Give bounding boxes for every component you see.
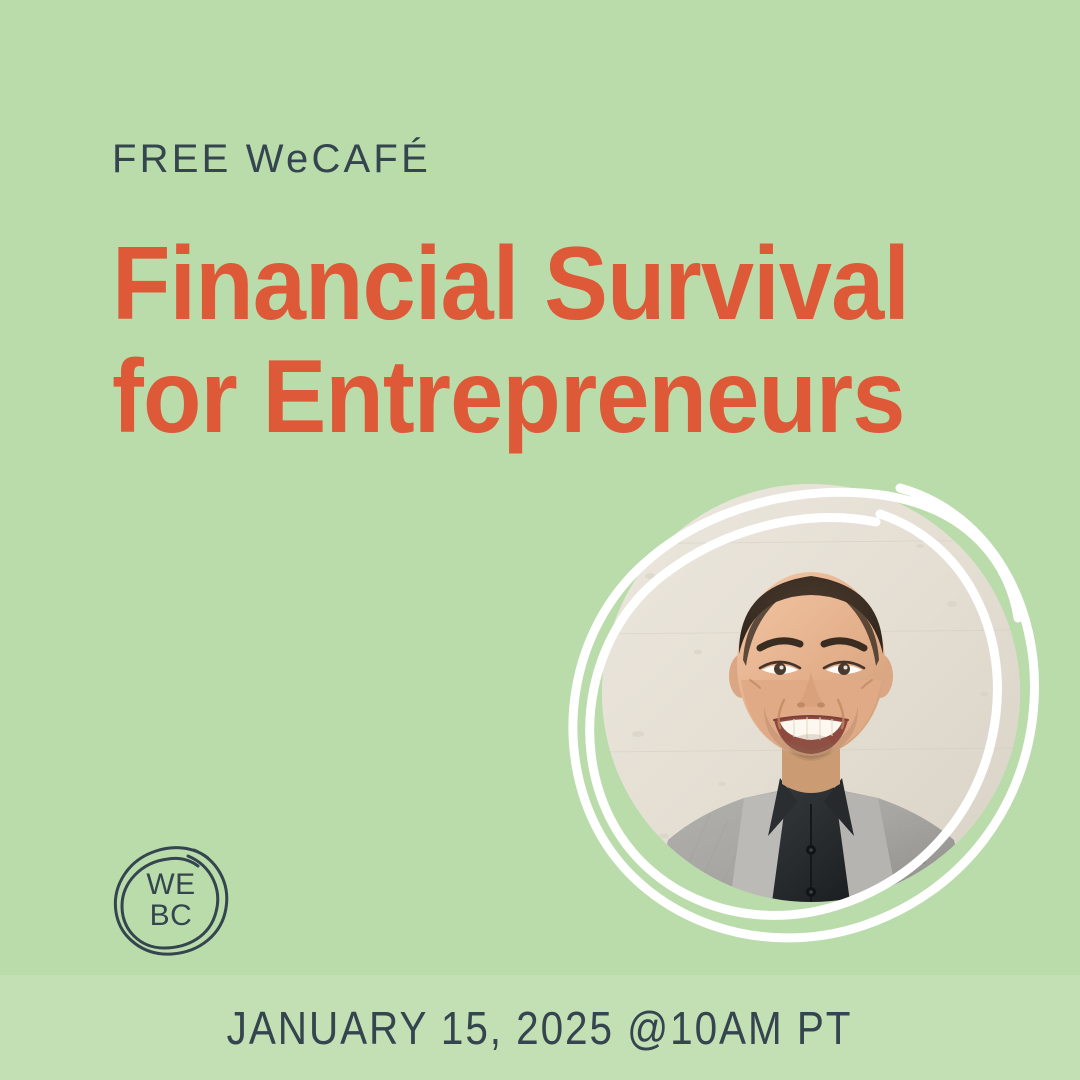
headline-line-1: Financial Survival — [112, 228, 885, 341]
page-title: Financial Survival for Entrepreneurs — [112, 228, 885, 455]
date-band: JANUARY 15, 2025 @10AM PT — [0, 975, 1080, 1080]
speaker-portrait-group — [540, 452, 1060, 972]
logo-circle-icon — [108, 838, 234, 964]
webc-logo: WE BC — [108, 838, 234, 964]
speaker-photo — [602, 484, 1020, 902]
event-date-time: JANUARY 15, 2025 @10AM PT — [227, 1005, 853, 1051]
headline-line-2: for Entrepreneurs — [112, 341, 885, 454]
event-poster: FREE WeCAFÉ Financial Survival for Entre… — [0, 0, 1080, 1080]
speaker-photo-illustration — [602, 484, 1020, 902]
eyebrow-label: FREE WeCAFÉ — [112, 139, 431, 179]
